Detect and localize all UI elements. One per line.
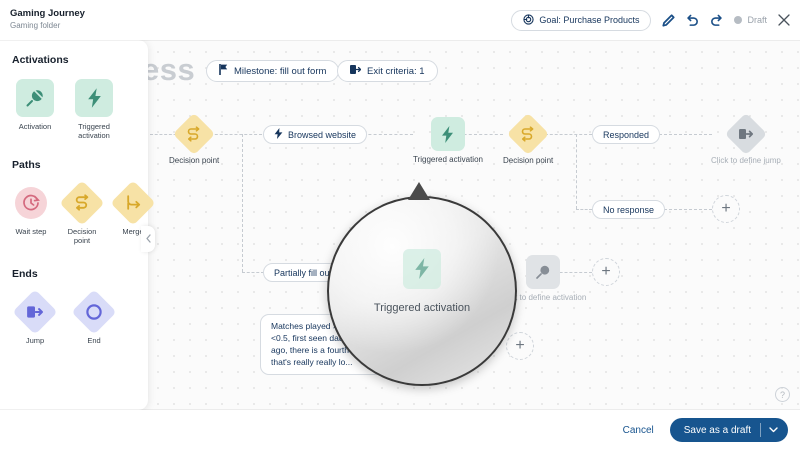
palette-row-ends: Jump End [12, 293, 136, 345]
redo-icon[interactable] [710, 14, 723, 27]
chevron-left-icon [146, 230, 151, 248]
goal-pill-label: Goal: Purchase Products [539, 15, 639, 25]
cancel-button[interactable]: Cancel [623, 425, 654, 436]
save-as-draft-button[interactable]: Save as a draft [670, 418, 788, 442]
status-badge: Draft [734, 15, 767, 25]
node-caption: Decision point [169, 156, 219, 166]
plug-icon [526, 255, 560, 289]
close-icon[interactable] [778, 14, 790, 26]
branch-icon [176, 116, 212, 152]
section-heading-ends: Ends [12, 268, 136, 280]
connector [576, 209, 592, 210]
palette-item-label: End [87, 336, 100, 345]
node-decision-point-1[interactable]: Decision point [169, 116, 219, 166]
section-heading-paths: Paths [12, 159, 136, 171]
title-block: Gaming Journey Gaming folder [0, 9, 85, 30]
connector [576, 134, 577, 209]
palette-item-end[interactable]: End [71, 293, 117, 345]
palette-item-triggered-activation[interactable]: Triggered activation [71, 79, 117, 141]
milestone-chip[interactable]: Milestone: fill out form [206, 60, 339, 82]
page-subtitle: Gaming folder [10, 21, 85, 30]
connector [242, 272, 264, 273]
branch-icon [63, 184, 101, 222]
lightning-icon [75, 79, 113, 117]
chip-no-response[interactable]: No response [592, 200, 665, 219]
page-title: Gaming Journey [10, 9, 85, 20]
add-node-button-mid[interactable]: + [592, 258, 620, 286]
plug-icon [16, 79, 54, 117]
cursor-pointer-icon [408, 182, 430, 200]
chip-browsed-website[interactable]: Browsed website [263, 125, 367, 144]
palette-item-label: Triggered activation [71, 122, 117, 141]
lightning-icon [403, 249, 441, 289]
help-icon: ? [780, 390, 785, 400]
palette-row-paths: Wait step Decision point Merge [12, 184, 136, 246]
chevron-down-icon[interactable] [761, 427, 788, 433]
merge-icon [114, 184, 152, 222]
connector [242, 134, 243, 272]
undo-icon[interactable] [686, 14, 699, 27]
node-decision-point-2[interactable]: Decision point [503, 116, 553, 166]
exit-criteria-chip-label: Exit criteria: 1 [367, 66, 425, 77]
node-caption: Click to define jump [711, 156, 781, 166]
connector [659, 209, 712, 210]
palette-item-decision-point[interactable]: Decision point [63, 184, 101, 246]
palette-item-jump[interactable]: Jump [12, 293, 58, 345]
connector [659, 134, 712, 135]
chip-responded[interactable]: Responded [592, 125, 660, 144]
sidebar-collapse-button[interactable] [141, 226, 155, 252]
node-caption: Decision point [503, 156, 553, 166]
magnified-node-caption: Triggered activation [374, 301, 470, 315]
lightning-icon [274, 128, 283, 141]
node-triggered-activation-1[interactable]: Triggered activation [413, 117, 483, 165]
palette-item-label: Wait step [16, 227, 47, 236]
help-button[interactable]: ? [775, 387, 790, 402]
chip-label: Responded [603, 130, 649, 140]
app-header: Gaming Journey Gaming folder Goal: Purch… [0, 0, 800, 40]
ghost-background-text: ess [142, 52, 195, 88]
branch-icon [510, 116, 546, 152]
milestone-chip-label: Milestone: fill out form [234, 66, 326, 77]
save-as-draft-label: Save as a draft [670, 425, 760, 436]
exit-criteria-chip[interactable]: Exit criteria: 1 [337, 60, 438, 82]
jump-icon [728, 116, 764, 152]
circle-icon [75, 293, 113, 331]
lightning-icon [431, 117, 465, 151]
status-dot-icon [734, 16, 742, 24]
palette-item-label: Decision point [63, 227, 101, 246]
palette-sidebar[interactable]: Activations Activation Triggered activat… [0, 40, 148, 410]
node-jump-placeholder[interactable]: Click to define jump [711, 116, 781, 166]
chip-label: Browsed website [288, 130, 356, 140]
magnifier-lens[interactable]: Triggered activation [327, 196, 517, 386]
palette-item-label: Jump [26, 336, 44, 345]
header-actions: Goal: Purchase Products Draft [511, 10, 800, 31]
target-icon [523, 14, 534, 27]
flag-icon [219, 64, 228, 78]
chip-label: No response [603, 205, 654, 215]
jump-icon [16, 293, 54, 331]
clock-icon [12, 184, 50, 222]
pencil-icon[interactable] [662, 14, 675, 27]
node-caption: Triggered activation [413, 155, 483, 165]
goal-pill[interactable]: Goal: Purchase Products [511, 10, 651, 31]
palette-item-activation[interactable]: Activation [12, 79, 58, 141]
footer-action-bar: Cancel Save as a draft [0, 410, 800, 450]
palette-row-activations: Activation Triggered activation [12, 79, 136, 141]
add-node-button-right[interactable]: + [712, 195, 740, 223]
exit-icon [350, 64, 361, 78]
palette-item-label: Activation [19, 122, 52, 131]
status-label: Draft [747, 15, 767, 25]
palette-item-wait-step[interactable]: Wait step [12, 184, 50, 246]
section-heading-activations: Activations [12, 54, 136, 66]
